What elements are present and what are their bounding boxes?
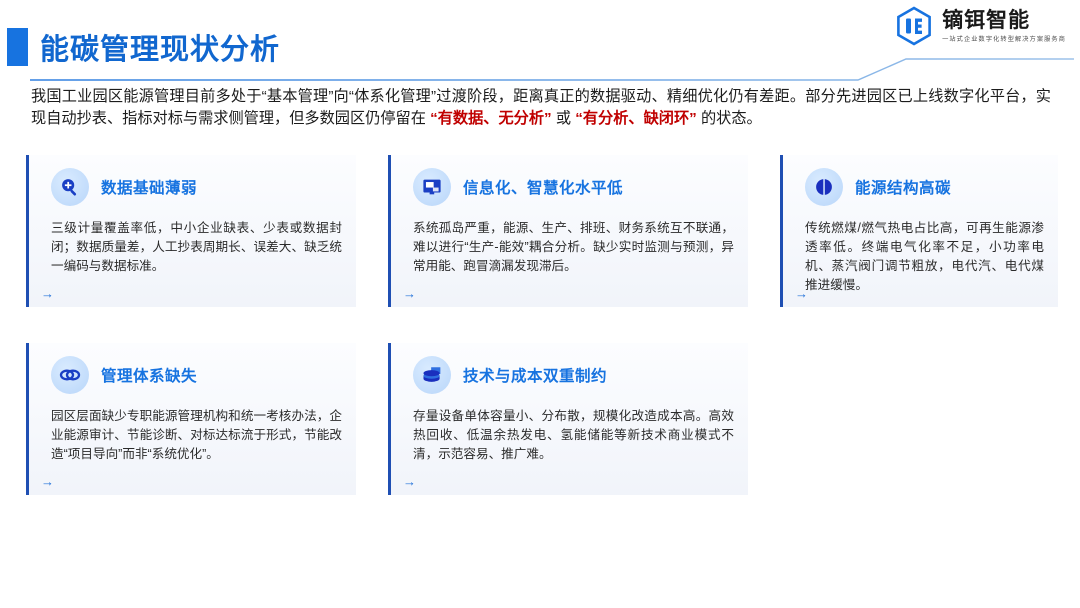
card-title: 能源结构高碳 <box>855 176 951 198</box>
split-circle-icon <box>805 168 843 206</box>
brand-logo: 镝铒智能 一站式企业数字化转型解决方案服务商 <box>894 6 1066 46</box>
issue-card-informatization-level[interactable]: 信息化、智慧化水平低 系统孤岛严重，能源、生产、排班、财务系统互不联通，难以进行… <box>388 155 748 307</box>
card-body-text: 存量设备单体容量小、分布散，规模化改造成本高。高效热回收、低温余热发电、氢能储能… <box>413 407 734 464</box>
database-stack-icon <box>413 356 451 394</box>
card-arrow-icon[interactable]: → <box>41 475 54 488</box>
brand-text: 镝铒智能 一站式企业数字化转型解决方案服务商 <box>942 9 1066 43</box>
card-title: 信息化、智慧化水平低 <box>463 176 623 198</box>
card-title: 技术与成本双重制约 <box>463 364 607 386</box>
card-body-text: 园区层面缺少专职能源管理机构和统一考核办法，企业能源审计、节能诊断、对标达标流于… <box>51 407 342 464</box>
card-header: 能源结构高碳 <box>805 165 1044 209</box>
card-title: 管理体系缺失 <box>101 364 197 386</box>
magnifier-plus-icon <box>51 168 89 206</box>
card-header: 信息化、智慧化水平低 <box>413 165 734 209</box>
issue-card-data-foundation[interactable]: 数据基础薄弱 三级计量覆盖率低，中小企业缺表、少表或数据封闭；数据质量差，人工抄… <box>26 155 356 307</box>
card-title: 数据基础薄弱 <box>101 176 197 198</box>
intro-text-part3: 的状态。 <box>697 110 762 127</box>
intro-paragraph: 我国工业园区能源管理目前多处于“基本管理”向“体系化管理”过渡阶段，距离真正的数… <box>31 86 1051 129</box>
issue-card-energy-structure-carbon[interactable]: 能源结构高碳 传统燃煤/燃气热电占比高，可再生能源渗透率低。终端电气化率不足，小… <box>780 155 1058 307</box>
card-arrow-icon[interactable]: → <box>403 287 416 300</box>
card-body-text: 三级计量覆盖率低，中小企业缺表、少表或数据封闭；数据质量差，人工抄表周期长、误差… <box>51 219 342 276</box>
card-arrow-icon[interactable]: → <box>795 287 808 300</box>
card-row-1: 数据基础薄弱 三级计量覆盖率低，中小企业缺表、少表或数据封闭；数据质量差，人工抄… <box>26 155 1058 307</box>
card-header: 数据基础薄弱 <box>51 165 342 209</box>
page-header: 能碳管理现状分析 镝铒智能 一站式企业数字化转型解决方案服务商 <box>0 0 1080 80</box>
monitor-screen-icon <box>413 168 451 206</box>
intro-highlight-2: “有分析、缺闭环” <box>575 110 697 127</box>
brand-name: 镝铒智能 <box>942 9 1030 31</box>
intro-highlight-1: “有数据、无分析” <box>430 110 552 127</box>
issue-card-tech-cost-constraint[interactable]: 技术与成本双重制约 存量设备单体容量小、分布散，规模化改造成本高。高效热回收、低… <box>388 343 748 495</box>
issue-card-grid: 数据基础薄弱 三级计量覆盖率低，中小企业缺表、少表或数据封闭；数据质量差，人工抄… <box>26 155 1058 495</box>
issue-card-management-system-missing[interactable]: 管理体系缺失 园区层面缺少专职能源管理机构和统一考核办法，企业能源审计、节能诊断… <box>26 343 356 495</box>
brand-tagline: 一站式企业数字化转型解决方案服务商 <box>942 34 1066 43</box>
hexagon-de-logo-icon <box>894 6 934 46</box>
intro-text-part2: 或 <box>552 110 576 127</box>
header-divider <box>0 56 1080 82</box>
card-row-2: 管理体系缺失 园区层面缺少专职能源管理机构和统一考核办法，企业能源审计、节能诊断… <box>26 343 1058 495</box>
card-body-text: 传统燃煤/燃气热电占比高，可再生能源渗透率低。终端电气化率不足，小功率电机、蒸汽… <box>805 219 1044 295</box>
card-body-text: 系统孤岛严重，能源、生产、排班、财务系统互不联通，难以进行“生产-能效”耦合分析… <box>413 219 734 276</box>
card-arrow-icon[interactable]: → <box>41 287 54 300</box>
card-arrow-icon[interactable]: → <box>403 475 416 488</box>
card-header: 技术与成本双重制约 <box>413 353 734 397</box>
chain-link-icon <box>51 356 89 394</box>
card-header: 管理体系缺失 <box>51 353 342 397</box>
